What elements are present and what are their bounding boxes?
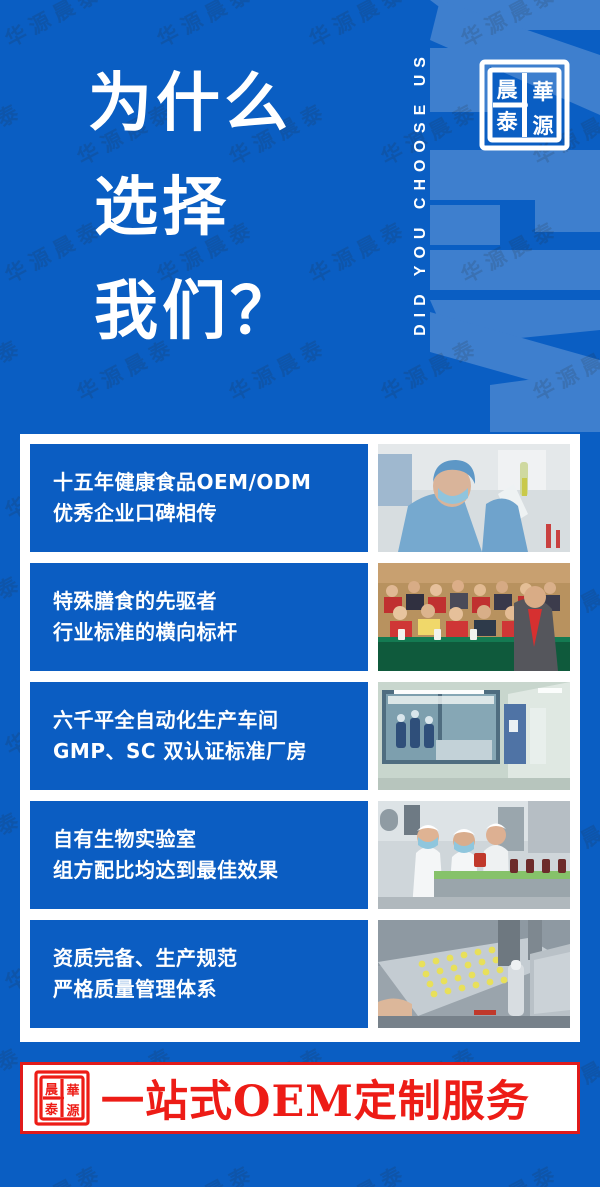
feature-photo-blister-packaging — [378, 920, 570, 1028]
feature-card: 自有生物实验室 组方配比均达到最佳效果 — [30, 801, 570, 909]
feature-line-2: 优秀企业口碑相传 — [53, 498, 368, 529]
vertical-tagline: DID YOU CHOOSE US — [404, 0, 438, 400]
feature-line-2: 组方配比均达到最佳效果 — [53, 855, 368, 886]
feature-card-text: 资质完备、生产规范 严格质量管理体系 — [30, 920, 368, 1028]
bottom-cta-text: 一站式OEM定制服务 — [101, 1067, 530, 1129]
feature-photo-cleanroom-corridor — [378, 682, 570, 790]
feature-line-1: 特殊膳食的先驱者 — [53, 586, 368, 617]
feature-card-text: 特殊膳食的先驱者 行业标准的横向标杆 — [30, 563, 368, 671]
feature-line-2: 行业标准的横向标杆 — [53, 617, 368, 648]
feature-card: 特殊膳食的先驱者 行业标准的横向标杆 — [30, 563, 570, 671]
poster-root: 为什么 选择 我们？ DID YOU CHOOSE US 晨 泰 華 源 — [0, 0, 600, 1187]
svg-text:泰: 泰 — [496, 109, 519, 134]
vertical-tagline-text: DID YOU CHOOSE US — [412, 50, 430, 336]
brand-seal-logo: 晨 泰 華 源 — [477, 55, 572, 155]
feature-line-1: 资质完备、生产规范 — [53, 943, 368, 974]
feature-card: 资质完备、生产规范 严格质量管理体系 — [30, 920, 570, 1028]
feature-photo-lab-technician — [378, 444, 570, 552]
svg-text:華: 華 — [66, 1083, 79, 1099]
svg-text:晨: 晨 — [497, 77, 519, 102]
feature-card-text: 十五年健康食品OEM/ODM 优秀企业口碑相传 — [30, 444, 368, 552]
svg-text:泰: 泰 — [44, 1102, 59, 1118]
feature-card-text: 六千平全自动化生产车间 GMP、SC 双认证标准厂房 — [30, 682, 368, 790]
feature-card-frame: 十五年健康食品OEM/ODM 优秀企业口碑相传 — [20, 434, 580, 1042]
feature-card: 六千平全自动化生产车间 GMP、SC 双认证标准厂房 — [30, 682, 570, 790]
watermark-text: 华源晨泰 — [303, 1156, 412, 1187]
hero-section: 为什么 选择 我们？ DID YOU CHOOSE US 晨 泰 華 源 — [0, 0, 600, 432]
feature-card: 十五年健康食品OEM/ODM 优秀企业口碑相传 — [30, 444, 570, 552]
feature-line-1: 自有生物实验室 — [53, 824, 368, 855]
feature-line-1: 六千平全自动化生产车间 — [53, 705, 368, 736]
headline-line-2: 选择 — [88, 156, 388, 260]
feature-card-text: 自有生物实验室 组方配比均达到最佳效果 — [30, 801, 368, 909]
headline-line-1: 为什么 — [88, 52, 388, 156]
page-title: 为什么 选择 我们？ — [88, 52, 388, 364]
feature-line-2: 严格质量管理体系 — [53, 974, 368, 1005]
svg-text:華: 華 — [533, 79, 554, 104]
feature-photo-conference-audience — [378, 563, 570, 671]
feature-photo-production-line-inspection — [378, 801, 570, 909]
watermark-text: 华源晨泰 — [151, 1156, 260, 1187]
svg-text:源: 源 — [533, 113, 554, 138]
headline-line-3: 我们？ — [88, 260, 388, 364]
watermark-text: 华源晨泰 — [455, 1156, 564, 1187]
brand-seal-logo-red: 晨 泰 華 源 — [33, 1069, 91, 1127]
feature-line-2: GMP、SC 双认证标准厂房 — [53, 736, 368, 767]
feature-line-1: 十五年健康食品OEM/ODM — [53, 467, 368, 498]
svg-text:晨: 晨 — [45, 1083, 59, 1098]
bottom-cta-banner: 晨 泰 華 源 一站式OEM定制服务 — [20, 1062, 580, 1134]
svg-text:源: 源 — [66, 1103, 79, 1119]
watermark-text: 华源晨泰 — [0, 1156, 109, 1187]
